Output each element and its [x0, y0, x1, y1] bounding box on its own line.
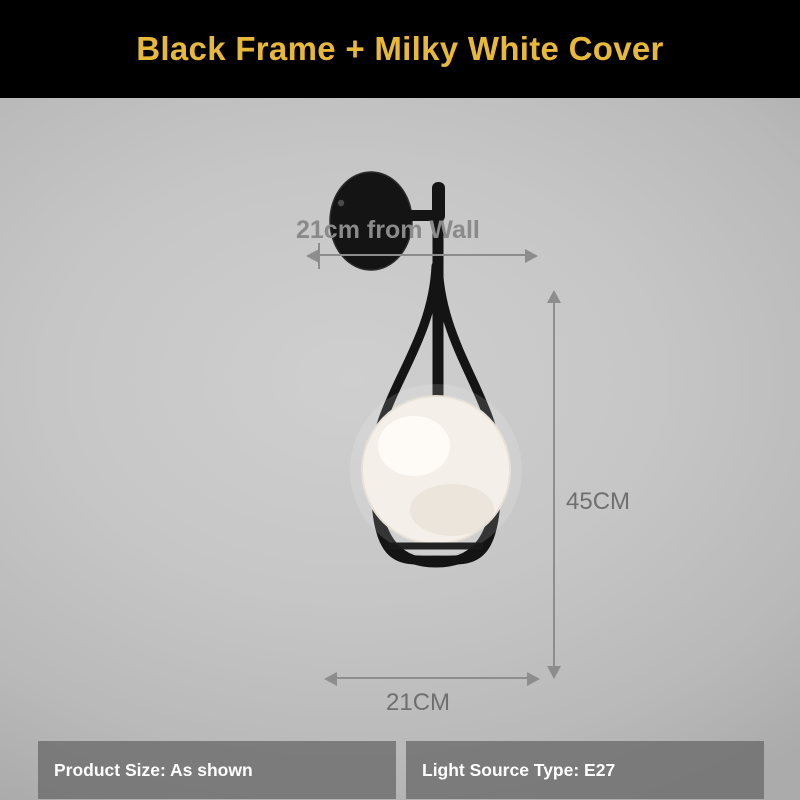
width-arrow-left: [324, 672, 337, 686]
lamp-cradle: [375, 473, 497, 560]
wall-distance-line: [318, 254, 526, 256]
spec-product-size: Product Size: As shown: [38, 741, 396, 799]
wall-distance-label: 21cm from Wall: [296, 216, 480, 245]
height-arrow-bottom: [547, 666, 561, 679]
spec-grid: Product Size: As shown Light Source Type…: [38, 741, 764, 800]
height-arrow-top: [547, 290, 561, 303]
wall-distance-arrow-right: [525, 249, 538, 263]
width-dimension-line: [336, 677, 528, 679]
lamp-teardrop-frame: [374, 258, 498, 563]
width-label: 21CM: [386, 689, 450, 717]
banner-title: Black Frame + Milky White Cover: [136, 30, 663, 68]
globe-shadow: [410, 484, 494, 536]
wall-distance-tick-left: [318, 243, 320, 269]
lamp-globe: [362, 396, 510, 544]
lamp-mount-screw: [338, 200, 344, 206]
product-image: Black Frame + Milky White Cover: [0, 0, 800, 800]
lamp-globe-edge: [362, 396, 510, 544]
width-arrow-right: [527, 672, 540, 686]
globe-highlight: [378, 416, 450, 476]
height-label: 45CM: [566, 488, 630, 516]
photo-area: 21cm from Wall 45CM 21CM Product Size: A…: [0, 98, 800, 800]
spec-light-source: Light Source Type: E27: [406, 741, 764, 799]
height-dimension-line: [553, 300, 555, 668]
banner: Black Frame + Milky White Cover: [0, 0, 800, 98]
globe-glow: [350, 384, 522, 556]
